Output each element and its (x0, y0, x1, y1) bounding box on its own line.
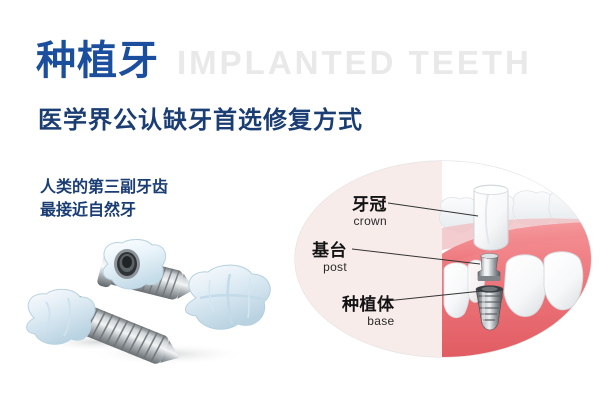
callout-post[interactable]: 基台 post (312, 242, 347, 273)
page-title-english-watermark: IMPLANTED TEETH (177, 46, 532, 79)
callout-base-cn: 种植体 (342, 296, 395, 313)
headline-row: 种植牙 IMPLANTED TEETH (36, 41, 532, 81)
dental-implant-pair-photo (18, 238, 286, 368)
callout-crown[interactable]: 牙冠 crown (352, 196, 387, 227)
callout-crown-en: crown (352, 215, 387, 227)
page-title: 种植牙 (36, 41, 159, 81)
callout-base-en: base (342, 315, 395, 327)
callout-base[interactable]: 种植体 base (342, 296, 395, 327)
callout-post-cn: 基台 (312, 242, 347, 259)
crown-part (474, 185, 508, 250)
poster-canvas: 种植牙 IMPLANTED TEETH 医学界公认缺牙首选修复方式 人类的第三副… (0, 0, 600, 400)
page-subtitle: 医学界公认缺牙首选修复方式 (38, 108, 363, 134)
tagline-line-2: 最接近自然牙 (40, 202, 136, 219)
callout-post-en: post (312, 261, 347, 273)
callout-crown-cn: 牙冠 (352, 196, 387, 213)
tagline: 人类的第三副牙齿 最接近自然牙 (40, 177, 168, 222)
tagline-line-1: 人类的第三副牙齿 (40, 179, 168, 196)
